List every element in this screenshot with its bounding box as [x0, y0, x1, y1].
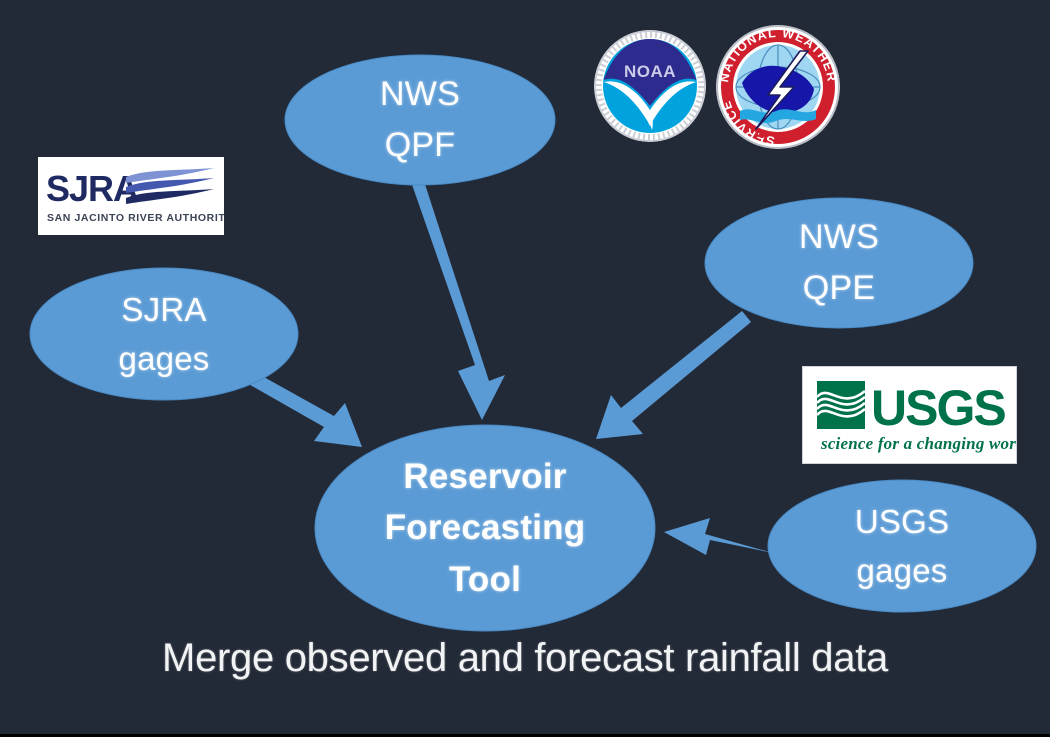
usgs-logo-graphic: USGS science for a changing world	[803, 367, 1016, 463]
edge-nws-qpe-to-tool	[596, 311, 751, 439]
sjra-acronym-text: SJRA	[46, 168, 139, 209]
nws-logo: NATIONAL WEATHER SERVICE	[716, 25, 840, 149]
sjra-logo-graphic: SJRA SAN JACINTO RIVER AUTHORITY	[38, 157, 224, 235]
node-usgs-gages[interactable]	[768, 480, 1036, 612]
node-reservoir-forecasting-tool[interactable]	[315, 425, 655, 631]
nws-logo-graphic: NATIONAL WEATHER SERVICE	[716, 25, 840, 149]
node-sjra-gages[interactable]	[30, 268, 298, 400]
noaa-logo: NOAA	[594, 30, 706, 142]
node-layer	[30, 55, 1036, 631]
usgs-tagline-text: science for a changing world	[820, 434, 1016, 453]
node-nws-qpe[interactable]	[705, 198, 973, 328]
edge-usgs-gages-to-tool	[664, 518, 773, 555]
usgs-acronym-text: USGS	[871, 380, 1005, 436]
sjra-tagline-text: SAN JACINTO RIVER AUTHORITY	[47, 212, 224, 224]
usgs-logo: USGS science for a changing world	[802, 366, 1017, 464]
node-nws-qpf[interactable]	[285, 55, 555, 185]
diagram-caption: Merge observed and forecast rainfall dat…	[0, 636, 1050, 681]
noaa-logo-graphic: NOAA	[594, 30, 706, 142]
edge-nws-qpf-to-tool	[409, 172, 505, 420]
noaa-acronym-text: NOAA	[624, 62, 676, 81]
sjra-logo: SJRA SAN JACINTO RIVER AUTHORITY	[38, 157, 224, 235]
diagram-canvas: NWS QPF NWS QPE SJRA gages USGS gages Re…	[0, 0, 1050, 737]
edge-sjra-gages-to-tool	[245, 371, 362, 447]
